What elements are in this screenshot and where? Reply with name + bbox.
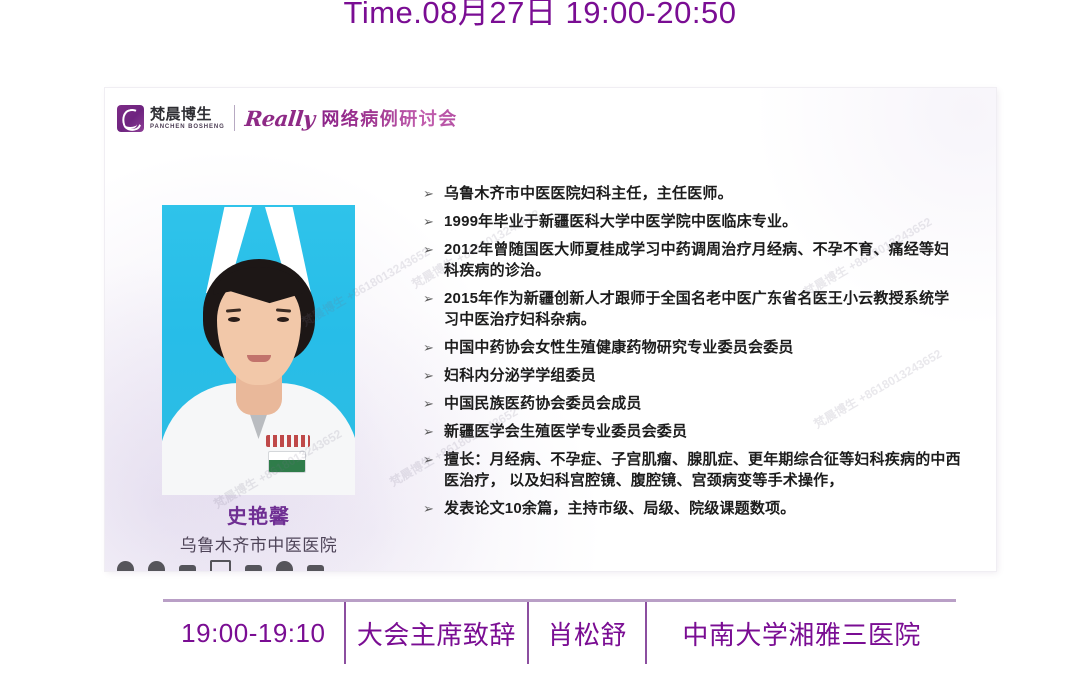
list-item-text: 妇科内分泌学学组委员 (444, 365, 596, 386)
list-item-text: 新疆医学会生殖医学专业委员会委员 (444, 421, 687, 442)
bullet-arrow-icon: ➢ (423, 365, 439, 386)
list-item: ➢ 中国民族医药协会委员会成员 (423, 393, 963, 414)
media-player-toolbar[interactable] (105, 553, 457, 571)
bullet-arrow-icon: ➢ (423, 449, 439, 470)
logo-divider (234, 105, 235, 131)
settings-icon[interactable] (179, 565, 196, 571)
panchen-bosheng-logo-icon (117, 105, 144, 132)
list-item: ➢ 擅长：月经病、不孕症、子宫肌瘤、腺肌症、更年期综合征等妇科疾病的中西医治疗，… (423, 449, 963, 491)
bullet-arrow-icon: ➢ (423, 393, 439, 414)
bullet-arrow-icon: ➢ (423, 183, 439, 204)
list-item-text: 1999年毕业于新疆医科大学中医学院中医临床专业。 (444, 211, 797, 232)
agenda-topic: 大会主席致辞 (344, 602, 528, 664)
bullet-arrow-icon: ➢ (423, 337, 439, 358)
play-icon[interactable] (117, 561, 134, 571)
list-item: ➢ 2015年作为新疆创新人才跟师于全国名老中医广东省名医王小云教授系统学习中医… (423, 288, 963, 330)
bullet-arrow-icon: ➢ (423, 421, 439, 442)
list-item: ➢ 中国中药协会女性生殖健康药物研究专业委员会委员 (423, 337, 963, 358)
agenda-organization: 中南大学湘雅三医院 (645, 602, 956, 664)
slide-logo-header: 梵晨博生 PANCHEN BOSHENG Really 网络病例研讨会 (117, 101, 458, 135)
list-item-text: 中国中药协会女性生殖健康药物研究专业委员会委员 (444, 337, 794, 358)
logo-event-name: 网络病例研讨会 (321, 105, 458, 131)
list-item-text: 擅长：月经病、不孕症、子宫肌瘤、腺肌症、更年期综合征等妇科疾病的中西医治疗， 以… (444, 449, 963, 491)
bullet-arrow-icon: ➢ (423, 239, 439, 260)
photo-eye-right (277, 317, 289, 322)
list-item-text: 乌鲁木齐市中医医院妇科主任，主任医师。 (444, 183, 733, 204)
list-item: ➢ 发表论文10余篇，主持市级、局级、院级课题数项。 (423, 498, 963, 519)
logo-company-en: PANCHEN BOSHENG (150, 124, 225, 130)
list-item-text: 中国民族医药协会委员会成员 (444, 393, 642, 414)
photo-mouth (247, 355, 271, 362)
fullscreen-icon[interactable] (210, 560, 231, 571)
logo-company-cn: 梵晨博生 (150, 107, 225, 122)
speaker-photo-image (162, 205, 355, 495)
screen-share-icon[interactable] (245, 565, 262, 571)
speaker-photo (162, 205, 355, 495)
list-item-text: 2012年曾随国医大师夏桂成学习中药调周治疗月经病、不孕不育、痛经等妇科疾病的诊… (444, 239, 963, 281)
title-band: Time.08月27日 19:00-20:50 (0, 0, 1080, 46)
volume-icon[interactable] (148, 561, 165, 571)
logo-script-word: Really (243, 106, 315, 131)
logo-company-block: 梵晨博生 PANCHEN BOSHENG (150, 107, 225, 130)
speaker-bio-list: ➢ 乌鲁木齐市中医医院妇科主任，主任医师。 ➢ 1999年毕业于新疆医科大学中医… (423, 183, 963, 526)
list-item: ➢ 新疆医学会生殖医学专业委员会委员 (423, 421, 963, 442)
photo-eye-left (228, 317, 240, 322)
photo-name-badge (268, 451, 306, 473)
photo-coat-emblem (266, 435, 310, 447)
list-item: ➢ 乌鲁木齐市中医医院妇科主任，主任医师。 (423, 183, 963, 204)
agenda-row: 19:00-19:10 大会主席致辞 肖松舒 中南大学湘雅三医院 (163, 602, 956, 664)
list-item: ➢ 2012年曾随国医大师夏桂成学习中药调周治疗月经病、不孕不育、痛经等妇科疾病… (423, 239, 963, 281)
list-item: ➢ 1999年毕业于新疆医科大学中医学院中医临床专业。 (423, 211, 963, 232)
agenda-speaker: 肖松舒 (527, 602, 645, 664)
list-item: ➢ 妇科内分泌学学组委员 (423, 365, 963, 386)
bullet-arrow-icon: ➢ (423, 211, 439, 232)
bullet-arrow-icon: ➢ (423, 498, 439, 519)
speaker-name: 史艳馨 (162, 500, 355, 529)
agenda-time: 19:00-19:10 (163, 602, 344, 664)
list-item-text: 2015年作为新疆创新人才跟师于全国名老中医广东省名医王小云教授系统学习中医治疗… (444, 288, 963, 330)
more-options-icon[interactable] (276, 561, 293, 571)
list-item-text: 发表论文10余篇，主持市级、局级、院级课题数项。 (444, 498, 796, 519)
presentation-slide[interactable]: 梵晨博生 PANCHEN BOSHENG Really 网络病例研讨会 史艳馨 … (105, 88, 996, 571)
bullet-arrow-icon: ➢ (423, 288, 439, 309)
chat-icon[interactable] (307, 565, 324, 571)
page-title: Time.08月27日 19:00-20:50 (344, 0, 737, 30)
